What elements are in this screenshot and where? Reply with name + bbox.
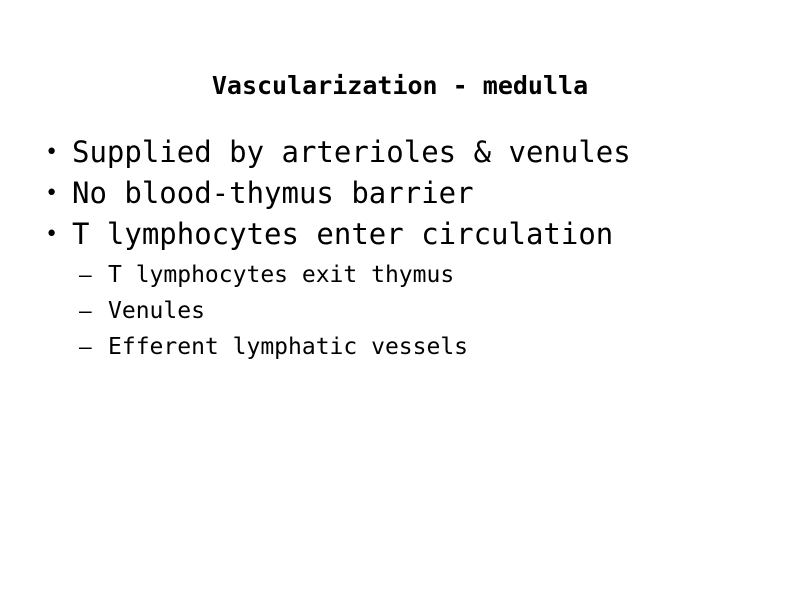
sub-bullet-text: Efferent lymphatic vessels	[108, 329, 468, 365]
bullet-text: No blood-thymus barrier	[72, 173, 474, 214]
slide-title: Vascularization - medulla	[0, 71, 800, 101]
sub-bullet-marker-icon: –	[79, 329, 101, 365]
bullet-item: • No blood-thymus barrier	[0, 173, 800, 214]
bullet-text: Supplied by arterioles & venules	[72, 132, 631, 173]
bullet-marker-icon: •	[45, 214, 65, 255]
bullet-text: T lymphocytes enter circulation	[72, 214, 613, 255]
bullet-marker-icon: •	[45, 132, 65, 173]
bullet-item: • Supplied by arterioles & venules	[0, 132, 800, 173]
slide-body: • Supplied by arterioles & venules • No …	[0, 132, 800, 365]
sub-bullet-item: – Efferent lymphatic vessels	[0, 329, 800, 365]
sub-bullet-marker-icon: –	[79, 293, 101, 329]
bullet-list: • Supplied by arterioles & venules • No …	[0, 132, 800, 365]
bullet-marker-icon: •	[45, 173, 65, 214]
sub-bullet-marker-icon: –	[79, 257, 101, 293]
sub-bullet-text: T lymphocytes exit thymus	[108, 257, 454, 293]
sub-bullet-item: – Venules	[0, 293, 800, 329]
sub-bullet-group: – T lymphocytes exit thymus – Venules – …	[0, 257, 800, 365]
sub-bullet-item: – T lymphocytes exit thymus	[0, 257, 800, 293]
bullet-item: • T lymphocytes enter circulation	[0, 214, 800, 255]
sub-bullet-list: – T lymphocytes exit thymus – Venules – …	[0, 257, 800, 365]
sub-bullet-text: Venules	[108, 293, 205, 329]
presentation-slide: Vascularization - medulla • Supplied by …	[0, 0, 800, 600]
